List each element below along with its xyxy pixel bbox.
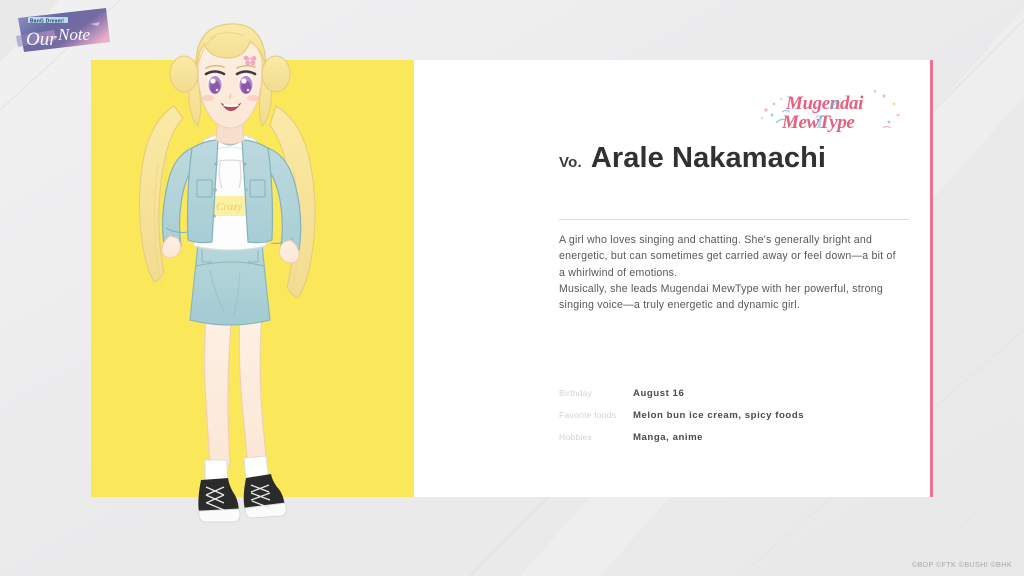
character-photo-panel <box>91 60 414 497</box>
detail-row-favorite-foods: Favorite foods Melon bun ice cream, spic… <box>559 410 929 421</box>
detail-row-birthday: Birthday August 16 <box>559 388 929 399</box>
description-line-4: Musically, she leads Mugendai MewType wi… <box>559 281 919 297</box>
character-role-prefix: Vo. <box>559 154 582 171</box>
description-line-3: a whirlwind of emotions. <box>559 265 919 281</box>
detail-row-hobbies: Hobbies Manga, anime <box>559 432 929 443</box>
detail-value-hobbies: Manga, anime <box>633 432 703 443</box>
description-line-1: A girl who loves singing and chatting. S… <box>559 232 919 248</box>
detail-value-favorite-foods: Melon bun ice cream, spicy foods <box>633 410 804 421</box>
description-line-2: energetic, but can sometimes get carried… <box>559 248 919 264</box>
svg-text:Our: Our <box>26 29 57 50</box>
detail-label-birthday: Birthday <box>559 388 633 398</box>
character-profile-card: Mugendai MewType e T Vo. Arale Nakamachi… <box>91 60 932 497</box>
svg-text:BanG Dream!: BanG Dream! <box>30 18 64 24</box>
profile-content: Mugendai MewType e T Vo. Arale Nakamachi… <box>468 60 932 497</box>
svg-text:Mugendai: Mugendai <box>785 93 864 114</box>
character-name: Arale Nakamachi <box>591 142 826 175</box>
detail-value-birthday: August 16 <box>633 388 684 399</box>
character-details: Birthday August 16 Favorite foods Melon … <box>559 388 929 454</box>
character-name-row: Vo. Arale Nakamachi <box>559 142 826 175</box>
detail-label-favorite-foods: Favorite foods <box>559 410 633 420</box>
description-line-5: singing voice—a truly energetic and dyna… <box>559 297 919 313</box>
ours-note-logo[interactable]: BanG Dream! Our Note <box>14 6 110 54</box>
character-description: A girl who loves singing and chatting. S… <box>559 232 919 313</box>
content-divider <box>559 219 909 220</box>
svg-text:e: e <box>830 93 839 114</box>
detail-label-hobbies: Hobbies <box>559 432 633 442</box>
copyright-notice: ©BDP ©FTK ©BUSHI ©BHK <box>912 560 1012 569</box>
mugendai-mewtype-logo[interactable]: Mugendai MewType e T <box>756 82 906 142</box>
svg-text:T: T <box>814 112 827 133</box>
svg-text:Note: Note <box>57 25 91 44</box>
